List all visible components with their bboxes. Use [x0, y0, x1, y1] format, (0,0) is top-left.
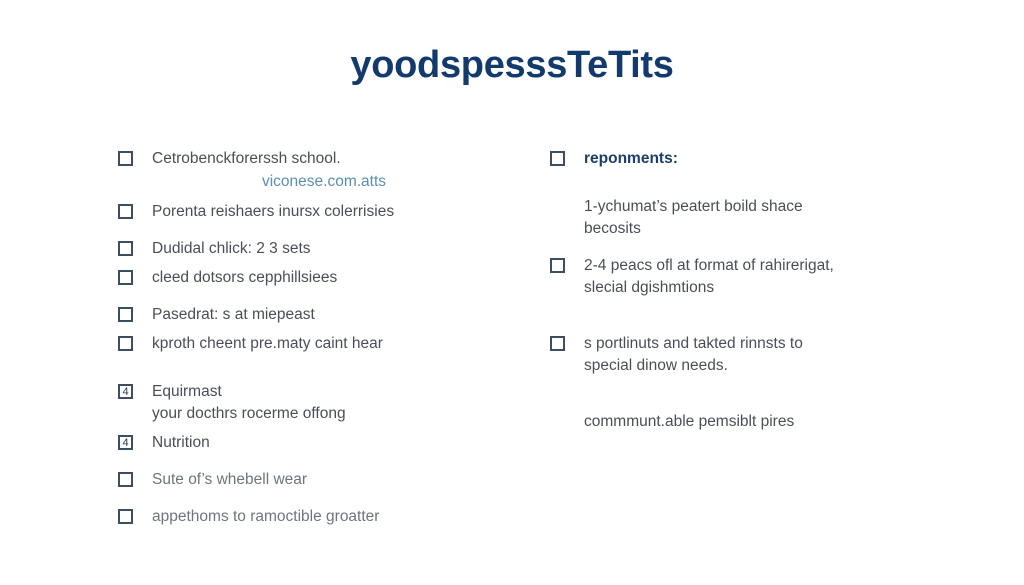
spacer: [118, 194, 518, 201]
list-item-label: s portlinuts and takted rinnsts to: [584, 333, 803, 355]
checkbox-spacer: [550, 355, 565, 356]
checkbox-unchecked[interactable]: [118, 472, 133, 487]
spacer: [550, 299, 920, 333]
spacer: [118, 425, 518, 432]
checkbox-unchecked[interactable]: [118, 509, 133, 524]
list-item-label: reponments:: [584, 148, 678, 170]
list-item[interactable]: Porenta reishaers inursx colerrisies: [118, 201, 518, 223]
spacer: [118, 454, 518, 469]
list-item[interactable]: Pasedrat: s at miepeast: [118, 304, 518, 326]
list-item-subtext: becosits: [584, 218, 641, 240]
list-item[interactable]: kproth cheent pre.maty caint hear: [118, 333, 518, 355]
list-item-label: cleed dotsors cepphillsiees: [152, 267, 337, 289]
spacer: [550, 377, 920, 411]
checkbox-unchecked[interactable]: [550, 336, 565, 351]
list-item-subtext: special dinow needs.: [584, 355, 728, 377]
spacer: [118, 260, 518, 267]
checkbox-unchecked[interactable]: [550, 258, 565, 273]
list-item-label: Sute of’s whebell wear: [152, 469, 307, 491]
page-title: yoodspesssTeTits: [0, 44, 1024, 87]
list-item[interactable]: Cetrobenckforerssh school.: [118, 148, 518, 170]
checkbox-spacer: [550, 196, 565, 197]
list-item-subtext: your docthrs rocerme offong: [152, 403, 346, 425]
list-item[interactable]: 2-4 peacs ofl at format of rahirerigat,: [550, 255, 920, 277]
list-item-label: kproth cheent pre.maty caint hear: [152, 333, 383, 355]
list-item[interactable]: cleed dotsors cepphillsiees: [118, 267, 518, 289]
list-item-subtext: slecial dgishmtions: [584, 277, 714, 299]
list-item-label: 2-4 peacs ofl at format of rahirerigat,: [584, 255, 834, 277]
spacer: [118, 223, 518, 238]
list-item-label: Nutrition: [152, 432, 210, 454]
list-item[interactable]: s portlinuts and takted rinnsts to: [550, 333, 920, 355]
spacer: [118, 326, 518, 333]
list-item-label: Porenta reishaers inursx colerrisies: [152, 201, 394, 223]
list-item-label: Pasedrat: s at miepeast: [152, 304, 315, 326]
checkbox-spacer: [550, 411, 565, 412]
checkbox-unchecked[interactable]: [118, 307, 133, 322]
list-item[interactable]: appethoms to ramoctible groatter: [118, 506, 518, 528]
list-item-label: 1-ychumat’s peatert boild shace: [584, 196, 803, 218]
list-item-subtext-row: your docthrs rocerme offong: [118, 403, 518, 425]
spacer: [118, 491, 518, 506]
list-item-label: Dudidal chlick: 2 3 sets: [152, 238, 311, 260]
spacer: [550, 240, 920, 255]
checkbox-unchecked[interactable]: [550, 151, 565, 166]
checkbox-spacer: [550, 277, 565, 278]
checklist-page: yoodspesssTeTits Cetrobenckforerssh scho…: [0, 0, 1024, 585]
spacer: [118, 355, 518, 381]
list-item-subtext-row: becosits: [550, 218, 920, 240]
checkbox-unchecked[interactable]: [118, 241, 133, 256]
list-item[interactable]: Nutrition: [118, 432, 518, 454]
list-item-link[interactable]: viconese.com.atts: [130, 170, 518, 194]
list-item-label: Equirmast: [152, 381, 222, 403]
list-item[interactable]: Equirmast: [118, 381, 518, 403]
checkbox-checked[interactable]: [118, 384, 133, 399]
list-item[interactable]: reponments:: [550, 148, 920, 170]
checkbox-unchecked[interactable]: [118, 270, 133, 285]
list-item-subtext-row: special dinow needs.: [550, 355, 920, 377]
list-item: 1-ychumat’s peatert boild shace: [550, 196, 920, 218]
list-item[interactable]: Sute of’s whebell wear: [118, 469, 518, 491]
left-column: Cetrobenckforerssh school. viconese.com.…: [118, 148, 518, 528]
list-item-label: commmunt.able pemsiblt pires: [584, 411, 794, 433]
checkbox-unchecked[interactable]: [118, 336, 133, 351]
checkbox-checked[interactable]: [118, 435, 133, 450]
checkbox-unchecked[interactable]: [118, 151, 133, 166]
list-item-label: appethoms to ramoctible groatter: [152, 506, 379, 528]
list-item-label: Cetrobenckforerssh school.: [152, 148, 341, 170]
list-item[interactable]: Dudidal chlick: 2 3 sets: [118, 238, 518, 260]
checkbox-spacer: [550, 218, 565, 219]
spacer: [550, 170, 920, 196]
checkbox-unchecked[interactable]: [118, 204, 133, 219]
list-item: commmunt.able pemsiblt pires: [550, 411, 920, 433]
right-column: reponments: 1-ychumat’s peatert boild sh…: [550, 148, 920, 433]
list-item-subtext-row: slecial dgishmtions: [550, 277, 920, 299]
spacer: [118, 289, 518, 304]
checkbox-spacer: [118, 403, 133, 404]
